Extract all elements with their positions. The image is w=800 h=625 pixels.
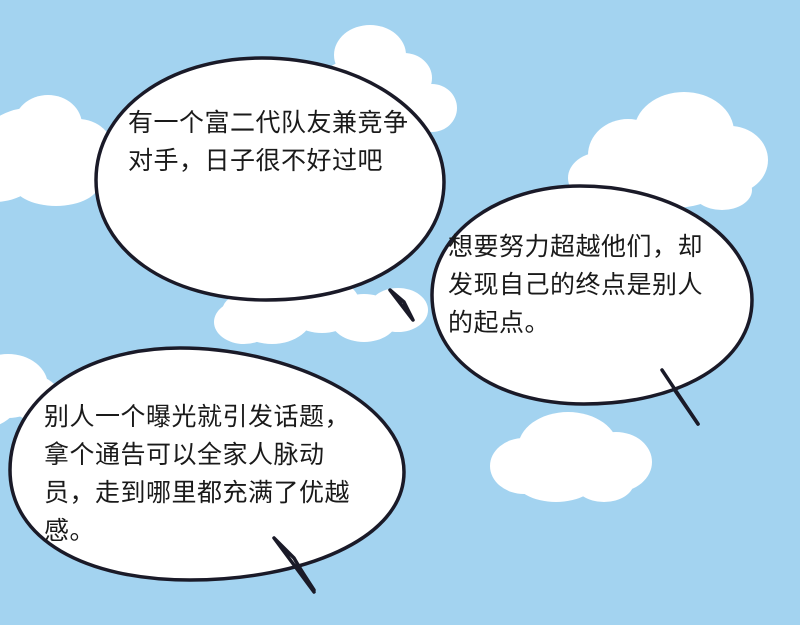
bubble-1-text: 有一个富二代队友兼竞争对手，日子很不好过吧 <box>128 104 428 180</box>
bubble-2-text: 想要努力超越他们，却发现自己的终点是别人的起点。 <box>448 228 710 342</box>
comic-panel: 有一个富二代队友兼竞争对手，日子很不好过吧 想要努力超越他们，却发现自己的终点是… <box>0 0 800 625</box>
bubble-1 <box>96 58 444 320</box>
bubble-3-text: 别人一个曝光就引发话题，拿个通告可以全家人脉动员，走到哪里都充满了优越感。 <box>44 398 354 550</box>
